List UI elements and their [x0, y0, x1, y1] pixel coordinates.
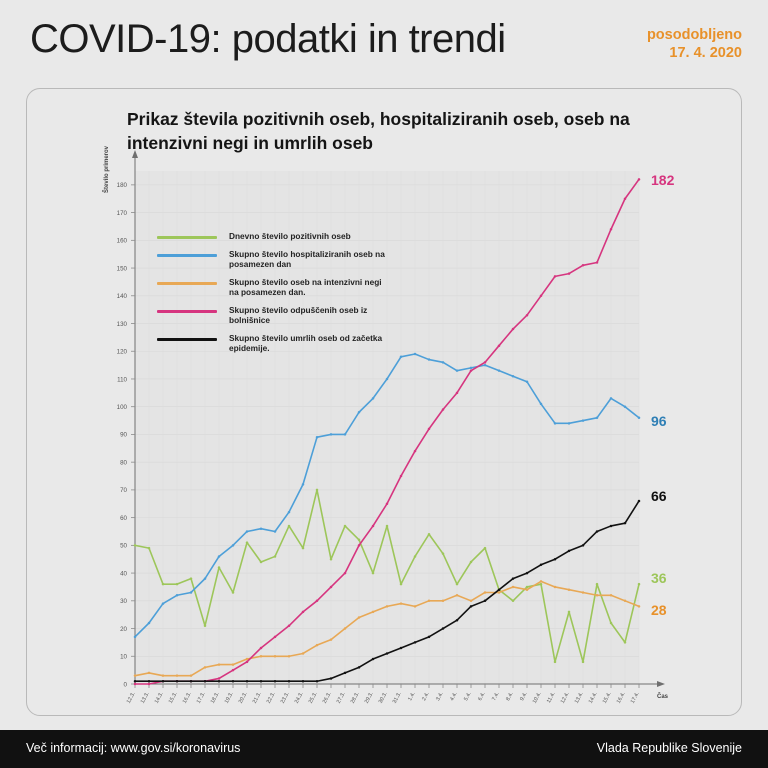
series-data-point	[456, 594, 459, 597]
series-data-point	[596, 417, 599, 420]
series-data-point	[204, 625, 207, 628]
series-data-point	[288, 680, 291, 683]
series-data-point	[232, 669, 235, 672]
x-axis-tick-label: 19.3.	[224, 691, 235, 704]
series-data-point	[204, 666, 207, 669]
series-data-point	[358, 666, 361, 669]
series-data-point	[638, 605, 641, 608]
y-axis-tick-label: 30	[120, 598, 127, 605]
x-axis-tick-label: 2.4.	[421, 691, 431, 702]
series-data-point	[526, 572, 529, 575]
series-data-point	[218, 677, 221, 680]
series-data-point	[568, 550, 571, 553]
series-data-point	[232, 591, 235, 594]
series-data-point	[582, 264, 585, 267]
series-data-point	[470, 367, 473, 370]
updated-block: posodobljeno 17. 4. 2020	[647, 26, 742, 62]
series-data-point	[176, 594, 179, 597]
series-data-point	[414, 605, 417, 608]
series-data-point	[274, 636, 277, 639]
series-data-point	[260, 647, 263, 650]
x-axis-title: Čas	[657, 693, 669, 700]
series-data-point	[260, 527, 263, 530]
series-data-point	[526, 380, 529, 383]
legend-item-label: Dnevno število pozitivnih oseb	[229, 231, 351, 242]
series-data-point	[582, 591, 585, 594]
series-data-point	[582, 544, 585, 547]
series-data-point	[288, 511, 291, 514]
series-data-point	[232, 544, 235, 547]
series-data-point	[134, 683, 137, 686]
series-data-point	[302, 680, 305, 683]
series-data-point	[638, 500, 641, 503]
series-data-point	[218, 680, 221, 683]
series-data-point	[610, 228, 613, 231]
y-axis-tick-label: 110	[117, 376, 127, 383]
series-data-point	[302, 547, 305, 550]
x-axis-tick-label: 15.4.	[602, 691, 613, 704]
series-data-point	[554, 661, 557, 664]
series-data-point	[386, 652, 389, 655]
series-data-point	[610, 622, 613, 625]
series-data-point	[344, 627, 347, 630]
series-data-point	[414, 353, 417, 356]
x-axis-tick-label: 23.3.	[280, 691, 291, 704]
x-axis-tick-label: 14.4.	[588, 691, 599, 704]
chart-legend: Dnevno število pozitivnih osebSkupno šte…	[157, 231, 392, 361]
y-axis-tick-label: 60	[120, 515, 127, 522]
series-data-point	[330, 433, 333, 436]
legend-item: Skupno število umrlih oseb od začetka ep…	[157, 333, 392, 354]
x-axis-tick-label: 30.3.	[378, 691, 389, 704]
series-data-point	[428, 636, 431, 639]
series-data-point	[372, 658, 375, 661]
series-data-point	[638, 583, 641, 586]
series-data-point	[162, 583, 165, 586]
series-data-point	[372, 611, 375, 614]
series-data-point	[498, 588, 501, 591]
series-data-point	[428, 533, 431, 536]
y-axis-tick-label: 0	[124, 681, 128, 688]
y-axis-tick-label: 40	[120, 570, 127, 577]
series-data-point	[638, 417, 641, 420]
series-data-point	[428, 428, 431, 431]
series-data-point	[554, 275, 557, 278]
x-axis-tick-label: 4.4.	[449, 691, 459, 702]
x-axis-tick-label: 16.3.	[182, 691, 193, 704]
series-data-point	[134, 636, 137, 639]
series-data-point	[582, 661, 585, 664]
series-data-point	[610, 525, 613, 528]
series-data-point	[596, 261, 599, 264]
series-data-point	[134, 544, 137, 547]
series-data-point	[554, 422, 557, 425]
x-axis-tick-label: 9.4.	[519, 691, 529, 702]
series-data-point	[372, 572, 375, 575]
footer-organization: Vlada Republike Slovenije	[597, 741, 742, 755]
series-data-point	[288, 655, 291, 658]
series-data-point	[540, 403, 543, 406]
y-axis-tick-label: 180	[117, 182, 128, 189]
series-data-point	[428, 358, 431, 361]
series-data-point	[274, 555, 277, 558]
x-axis-arrow	[657, 681, 665, 687]
series-data-point	[372, 397, 375, 400]
series-data-point	[540, 564, 543, 567]
chart-x-tick-labels: 12.3.13.3.14.3.15.3.16.3.17.3.18.3.19.3.…	[126, 684, 641, 705]
x-axis-tick-label: 28.3.	[350, 691, 361, 704]
series-data-point	[344, 433, 347, 436]
series-data-point	[526, 586, 529, 589]
page-title: COVID-19: podatki in trendi	[30, 17, 506, 62]
x-axis-tick-label: 3.4.	[435, 691, 445, 702]
series-data-point	[540, 580, 543, 583]
series-data-point	[400, 356, 403, 359]
legend-item-label: Skupno število hospitaliziranih oseb na …	[229, 249, 392, 270]
series-data-point	[358, 539, 361, 542]
series-data-point	[176, 680, 179, 683]
series-data-point	[442, 600, 445, 603]
y-axis-tick-label: 170	[117, 210, 128, 217]
series-data-point	[260, 655, 263, 658]
series-data-point	[372, 525, 375, 528]
series-data-point	[610, 594, 613, 597]
chart-card: Prikaz števila pozitivnih oseb, hospital…	[26, 88, 742, 716]
series-data-point	[386, 525, 389, 528]
series-data-point	[344, 525, 347, 528]
series-data-point	[624, 641, 627, 644]
series-data-point	[260, 680, 263, 683]
x-axis-tick-label: 13.3.	[140, 691, 151, 704]
series-data-point	[246, 530, 249, 533]
series-data-point	[526, 588, 529, 591]
y-axis-tick-label: 90	[120, 432, 127, 439]
series-data-point	[134, 674, 137, 677]
series-data-point	[218, 663, 221, 666]
x-axis-tick-label: 5.4.	[463, 691, 473, 702]
series-data-point	[596, 583, 599, 586]
series-data-point	[414, 555, 417, 558]
y-axis-tick-label: 50	[120, 543, 127, 550]
x-axis-tick-label: 27.3.	[336, 691, 347, 704]
series-data-point	[582, 419, 585, 422]
series-data-point	[162, 680, 165, 683]
series-data-point	[302, 483, 305, 486]
legend-item-label: Skupno število umrlih oseb od začetka ep…	[229, 333, 392, 354]
series-data-point	[624, 197, 627, 200]
series-data-point	[484, 364, 487, 367]
line-chart-svg: 0102030405060708090100110120130140150160…	[27, 89, 743, 717]
series-data-point	[176, 583, 179, 586]
series-data-point	[470, 600, 473, 603]
chart-y-tick-labels: 0102030405060708090100110120130140150160…	[117, 182, 135, 688]
series-data-point	[624, 522, 627, 525]
series-data-point	[148, 622, 151, 625]
x-axis-tick-label: 21.3.	[252, 691, 263, 704]
legend-item-label: Skupno število oseb na intenzivni negi n…	[229, 277, 392, 298]
y-axis-tick-label: 130	[117, 321, 128, 328]
series-data-point	[414, 641, 417, 644]
series-data-point	[596, 530, 599, 533]
series-data-point	[148, 680, 151, 683]
x-axis-tick-label: 11.4.	[546, 691, 557, 704]
series-data-point	[218, 566, 221, 569]
series-data-point	[526, 314, 529, 317]
y-axis-tick-label: 80	[120, 459, 127, 466]
series-data-point	[148, 683, 151, 686]
x-axis-tick-label: 6.4.	[477, 691, 487, 702]
x-axis-tick-label: 1.4.	[407, 691, 417, 702]
series-data-point	[456, 619, 459, 622]
series-data-point	[316, 644, 319, 647]
series-data-point	[470, 369, 473, 372]
series-data-point	[190, 577, 193, 580]
series-data-point	[232, 680, 235, 683]
series-data-point	[400, 602, 403, 605]
y-axis-title: Število primerov	[102, 145, 110, 193]
y-axis-tick-label: 20	[120, 626, 127, 633]
y-axis-arrow	[132, 150, 138, 158]
series-data-point	[302, 652, 305, 655]
x-axis-tick-label: 7.4.	[491, 691, 501, 702]
series-data-point	[358, 411, 361, 414]
legend-color-swatch	[157, 282, 217, 285]
x-axis-tick-label: 14.3.	[154, 691, 165, 704]
series-data-point	[638, 178, 641, 181]
series-data-point	[302, 611, 305, 614]
chart-plot-area: 0102030405060708090100110120130140150160…	[27, 89, 743, 717]
x-axis-tick-label: 22.3.	[266, 691, 277, 704]
series-data-point	[568, 272, 571, 275]
series-data-point	[568, 611, 571, 614]
series-data-point	[498, 591, 501, 594]
series-data-point	[218, 555, 221, 558]
series-data-point	[442, 552, 445, 555]
x-axis-tick-label: 12.4.	[560, 691, 571, 704]
series-data-point	[400, 475, 403, 478]
x-axis-tick-label: 18.3.	[210, 691, 221, 704]
series-data-point	[134, 680, 137, 683]
series-data-point	[442, 627, 445, 630]
y-axis-tick-label: 10	[120, 654, 127, 661]
series-data-point	[512, 600, 515, 603]
updated-label: posodobljeno	[647, 26, 742, 44]
series-data-point	[148, 547, 151, 550]
series-data-point	[484, 547, 487, 550]
series-data-point	[358, 616, 361, 619]
series-data-point	[386, 378, 389, 381]
legend-item: Dnevno število pozitivnih oseb	[157, 231, 392, 242]
x-axis-tick-label: 20.3.	[238, 691, 249, 704]
series-end-value-discharged: 182	[651, 172, 674, 188]
series-data-point	[204, 577, 207, 580]
series-data-point	[330, 677, 333, 680]
legend-item: Skupno število odpuščenih oseb iz bolniš…	[157, 305, 392, 326]
series-data-point	[232, 663, 235, 666]
series-data-point	[456, 583, 459, 586]
y-axis-tick-label: 120	[117, 349, 128, 356]
series-data-point	[624, 600, 627, 603]
series-data-point	[596, 594, 599, 597]
legend-item: Skupno število hospitaliziranih oseb na …	[157, 249, 392, 270]
series-data-point	[344, 572, 347, 575]
series-data-point	[162, 602, 165, 605]
y-axis-tick-label: 160	[117, 238, 128, 245]
series-data-point	[274, 530, 277, 533]
page-footer: Več informacij: www.gov.si/koronavirus V…	[0, 730, 768, 768]
series-data-point	[260, 561, 263, 564]
series-data-point	[330, 638, 333, 641]
series-data-point	[288, 625, 291, 628]
series-data-point	[386, 605, 389, 608]
series-end-value-hospitalized: 96	[651, 413, 667, 429]
series-data-point	[428, 600, 431, 603]
series-data-point	[386, 503, 389, 506]
series-data-point	[498, 344, 501, 347]
legend-item: Skupno število oseb na intenzivni negi n…	[157, 277, 392, 298]
x-axis-tick-label: 31.3.	[392, 691, 403, 704]
series-data-point	[512, 328, 515, 331]
series-data-point	[316, 436, 319, 439]
series-data-point	[288, 525, 291, 528]
series-data-point	[442, 408, 445, 411]
series-data-point	[540, 295, 543, 298]
series-data-point	[470, 561, 473, 564]
x-axis-tick-label: 24.3.	[294, 691, 305, 704]
x-axis-tick-label: 29.3.	[364, 691, 375, 704]
updated-date: 17. 4. 2020	[647, 44, 742, 62]
series-data-point	[568, 588, 571, 591]
series-data-point	[344, 672, 347, 675]
series-data-point	[316, 489, 319, 492]
x-axis-tick-label: 10.4.	[532, 691, 543, 704]
series-data-point	[498, 369, 501, 372]
series-data-point	[456, 392, 459, 395]
y-axis-tick-label: 150	[117, 265, 128, 272]
y-axis-tick-label: 70	[120, 487, 127, 494]
series-data-point	[624, 405, 627, 408]
x-axis-tick-label: 16.4.	[616, 691, 627, 704]
series-data-point	[246, 541, 249, 544]
x-axis-tick-label: 8.4.	[505, 691, 515, 702]
series-data-point	[190, 680, 193, 683]
legend-color-swatch	[157, 310, 217, 313]
page-header: COVID-19: podatki in trendi posodobljeno…	[0, 0, 768, 84]
series-data-point	[414, 450, 417, 453]
series-data-point	[274, 680, 277, 683]
series-data-point	[316, 680, 319, 683]
series-data-point	[554, 586, 557, 589]
series-data-point	[400, 647, 403, 650]
series-data-point	[162, 674, 165, 677]
x-axis-tick-label: 17.3.	[196, 691, 207, 704]
series-data-point	[512, 577, 515, 580]
x-axis-tick-label: 17.4.	[630, 691, 641, 704]
series-end-value-intensive-care: 28	[651, 602, 667, 618]
series-data-point	[358, 544, 361, 547]
y-axis-tick-label: 100	[117, 404, 128, 411]
series-data-point	[176, 674, 179, 677]
series-data-point	[330, 586, 333, 589]
series-data-point	[540, 583, 543, 586]
x-axis-tick-label: 15.3.	[168, 691, 179, 704]
series-data-point	[554, 558, 557, 561]
legend-color-swatch	[157, 338, 217, 341]
legend-color-swatch	[157, 236, 217, 239]
series-data-point	[400, 583, 403, 586]
series-data-point	[330, 558, 333, 561]
series-data-point	[148, 672, 151, 675]
footer-more-info[interactable]: Več informacij: www.gov.si/koronavirus	[26, 741, 240, 755]
series-data-point	[512, 375, 515, 378]
legend-color-swatch	[157, 254, 217, 257]
series-data-point	[246, 661, 249, 664]
series-data-point	[246, 680, 249, 683]
series-data-point	[190, 591, 193, 594]
series-data-point	[484, 361, 487, 364]
series-data-point	[484, 600, 487, 603]
series-end-value-daily-positive: 36	[651, 570, 667, 586]
series-end-value-deaths: 66	[651, 488, 667, 504]
series-data-point	[190, 674, 193, 677]
x-axis-tick-label: 25.3.	[308, 691, 319, 704]
series-data-point	[274, 655, 277, 658]
y-axis-tick-label: 140	[117, 293, 128, 300]
series-data-point	[610, 397, 613, 400]
series-data-point	[442, 361, 445, 364]
series-data-point	[316, 600, 319, 603]
x-axis-tick-label: 26.3.	[322, 691, 333, 704]
series-data-point	[484, 591, 487, 594]
x-axis-tick-label: 13.4.	[574, 691, 585, 704]
legend-item-label: Skupno število odpuščenih oseb iz bolniš…	[229, 305, 392, 326]
series-data-point	[204, 680, 207, 683]
series-data-point	[512, 586, 515, 589]
x-axis-tick-label: 12.3.	[126, 691, 137, 704]
series-data-point	[568, 422, 571, 425]
series-data-point	[470, 605, 473, 608]
series-data-point	[456, 369, 459, 372]
